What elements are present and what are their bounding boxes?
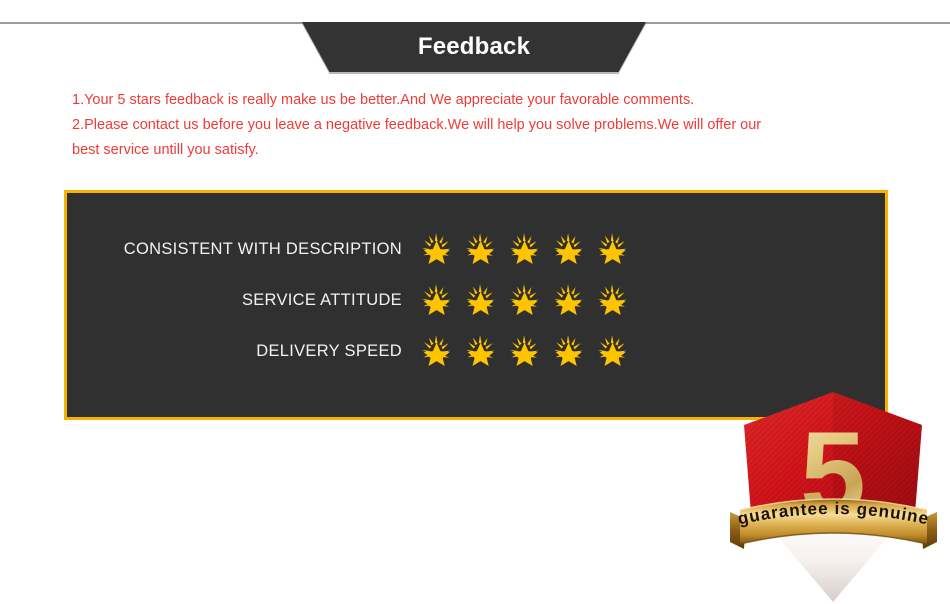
feedback-policy-text: 1.Your 5 stars feedback is really make u… [72, 88, 892, 163]
sparkle-star-icon [417, 281, 455, 319]
rating-label: SERVICE ATTITUDE [67, 291, 402, 310]
sparkle-star-icon [417, 332, 455, 370]
rating-row-list: CONSISTENT WITH DESCRIPTIONSERVICE ATTIT… [67, 225, 647, 378]
sparkle-star-icon [505, 332, 543, 370]
rating-row: DELIVERY SPEED [67, 327, 647, 375]
rating-label: CONSISTENT WITH DESCRIPTION [67, 240, 402, 259]
sparkle-star-icon [549, 281, 587, 319]
sparkle-star-icon [549, 332, 587, 370]
sparkle-star-icon [505, 230, 543, 268]
sparkle-star-icon [593, 332, 631, 370]
sparkle-star-icon [549, 230, 587, 268]
sparkle-star-icon [593, 230, 631, 268]
sparkle-star-icon [461, 281, 499, 319]
rating-stars[interactable] [417, 281, 637, 319]
header-rule-left [0, 22, 305, 24]
rating-label: DELIVERY SPEED [67, 342, 402, 361]
guarantee-shield-badge: 5 guarantee is genuine [726, 386, 941, 604]
rating-stars[interactable] [417, 230, 637, 268]
sparkle-star-icon [417, 230, 455, 268]
header-banner: Feedback [0, 0, 950, 80]
sparkle-star-icon [461, 230, 499, 268]
policy-line-2: 2.Please contact us before you leave a n… [72, 113, 892, 138]
sparkle-star-icon [461, 332, 499, 370]
policy-line-1: 1.Your 5 stars feedback is really make u… [72, 88, 892, 113]
policy-line-3: best service untill you satisfy. [72, 138, 892, 163]
page-title: Feedback [302, 22, 646, 72]
sparkle-star-icon [505, 281, 543, 319]
rating-stars[interactable] [417, 332, 637, 370]
rating-row: SERVICE ATTITUDE [67, 276, 647, 324]
rating-panel: CONSISTENT WITH DESCRIPTIONSERVICE ATTIT… [64, 190, 888, 420]
header-rule-right [643, 22, 950, 24]
rating-row: CONSISTENT WITH DESCRIPTION [67, 225, 647, 273]
sparkle-star-icon [593, 281, 631, 319]
